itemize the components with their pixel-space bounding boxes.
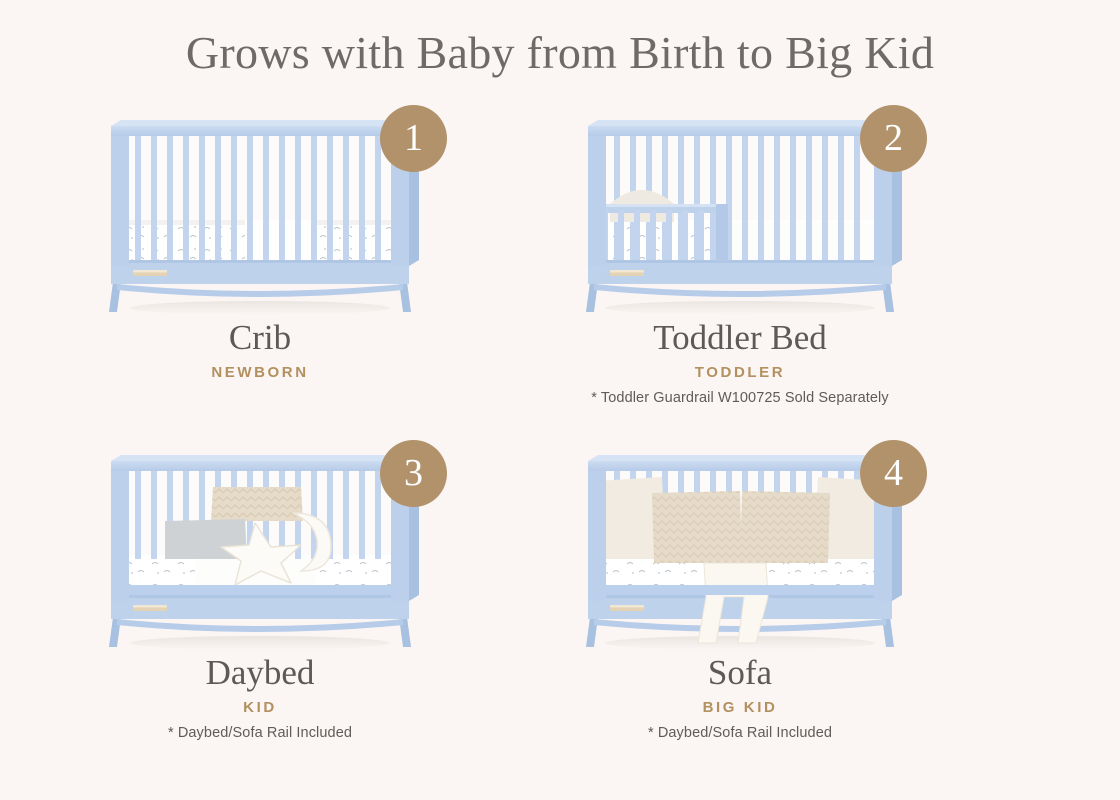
stage-label: KID (80, 699, 440, 716)
sofa-illustration (570, 447, 910, 657)
caption-sofa: Sofa BIG KID * Daybed/Sofa Rail Included (560, 653, 920, 741)
stage-badge-1: 1 (380, 105, 447, 172)
stage-badge-4: 4 (860, 440, 927, 507)
stage-title: Sofa (560, 653, 920, 693)
stage-title: Daybed (80, 653, 440, 693)
stage-note: * Daybed/Sofa Rail Included (560, 725, 920, 741)
page-title: Grows with Baby from Birth to Big Kid (0, 26, 1120, 79)
stage-badge-2: 2 (860, 105, 927, 172)
caption-toddler-bed: Toddler Bed TODDLER * Toddler Guardrail … (560, 318, 920, 406)
stage-panel-sofa: 4 (560, 435, 1040, 775)
stage-badge-3: 3 (380, 440, 447, 507)
stage-label: NEWBORN (80, 364, 440, 381)
stage-panel-daybed: 3 (80, 435, 560, 775)
stage-note: * Toddler Guardrail W100725 Sold Separat… (560, 390, 920, 406)
daybed-illustration (95, 447, 425, 657)
stage-panel-crib: 1 (80, 100, 560, 440)
crib-illustration (95, 112, 425, 322)
stage-title: Toddler Bed (560, 318, 920, 358)
caption-crib: Crib NEWBORN (80, 318, 440, 381)
caption-daybed: Daybed KID * Daybed/Sofa Rail Included (80, 653, 440, 741)
stage-label: TODDLER (560, 364, 920, 381)
toddler-bed-illustration (570, 112, 910, 322)
stage-label: BIG KID (560, 699, 920, 716)
conversion-stages-grid: 1 (0, 100, 1120, 800)
stage-note: * Daybed/Sofa Rail Included (80, 725, 440, 741)
stage-title: Crib (80, 318, 440, 358)
stage-panel-toddler-bed: 2 (560, 100, 1040, 440)
